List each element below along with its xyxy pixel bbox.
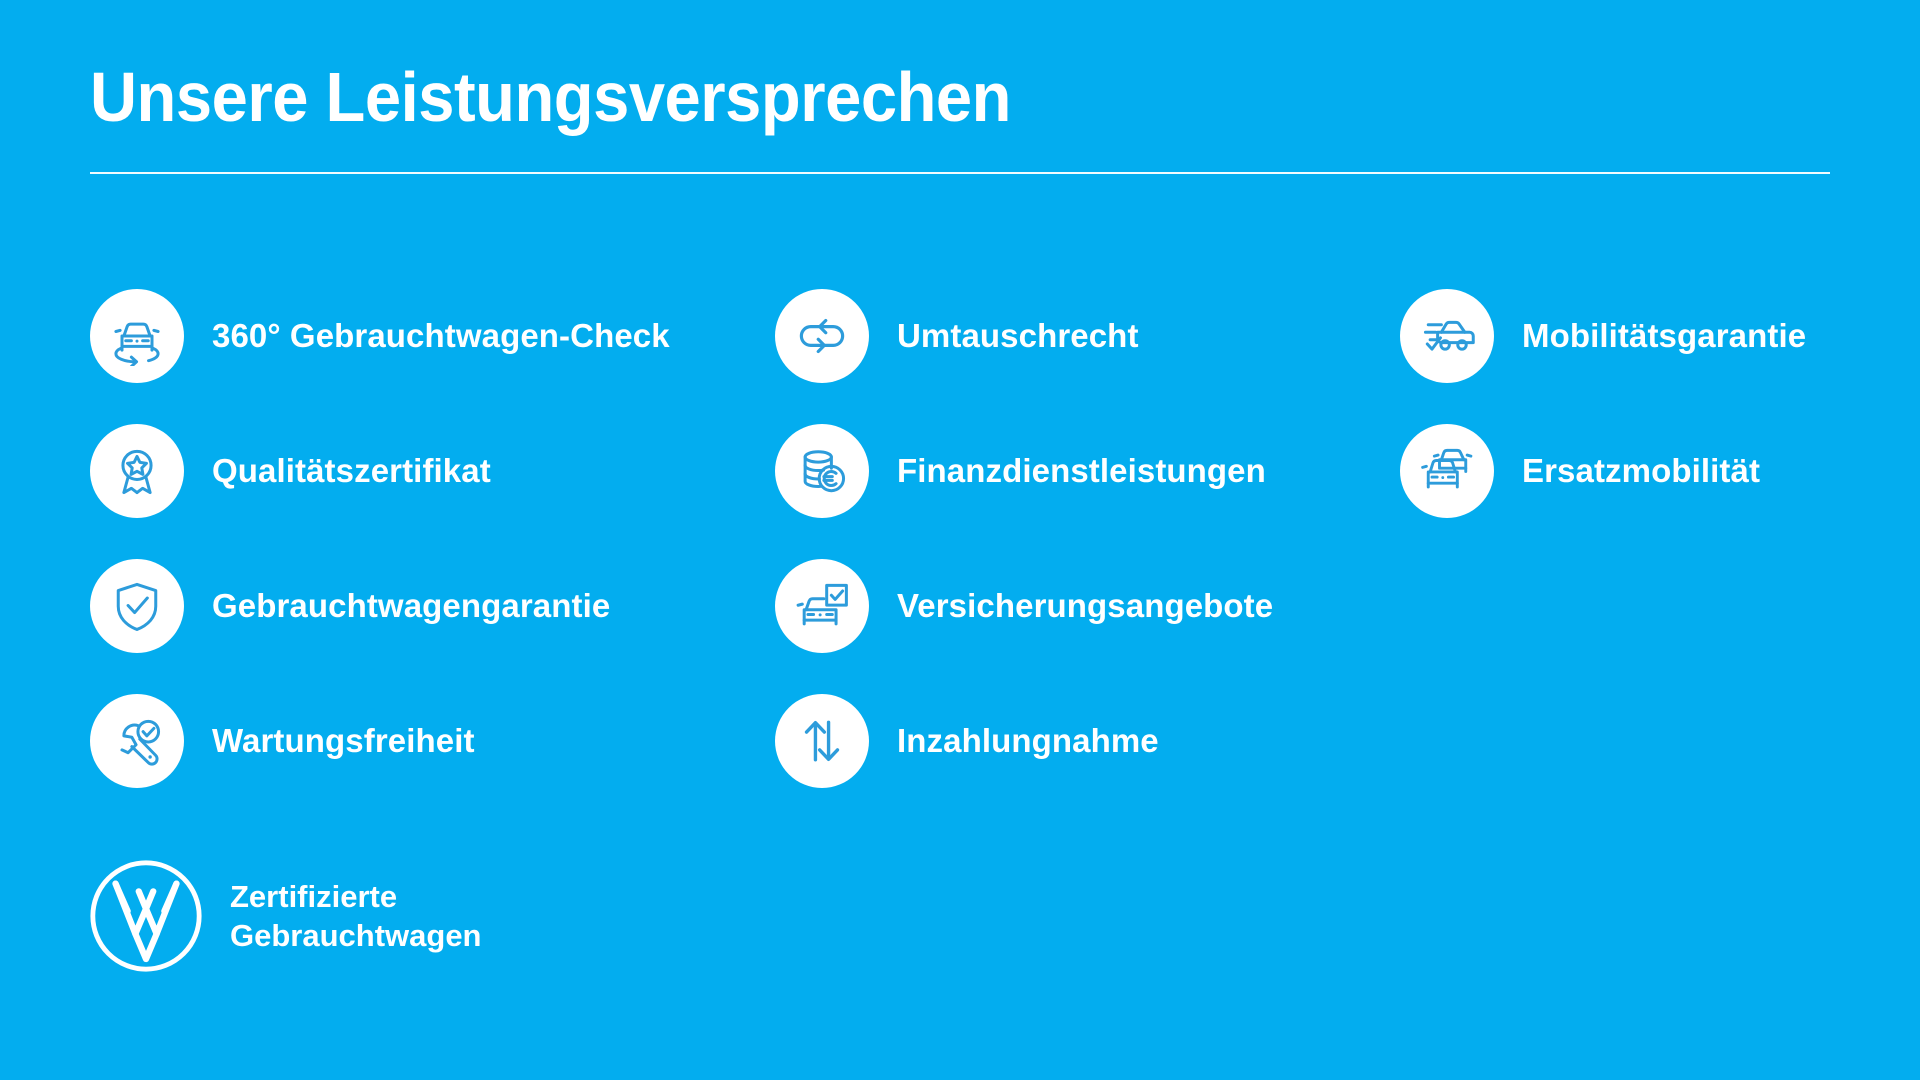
brand-line-1: Zertifizierte	[230, 877, 482, 916]
promise-item-used-car-warranty[interactable]: Gebrauchtwagengarantie	[90, 538, 775, 673]
promises-column-1: 360° Gebrauchtwagen-Check Qualitätszerti…	[90, 268, 775, 808]
two-cars-icon	[1400, 424, 1494, 518]
brand-line-2: Gebrauchtwagen	[230, 916, 482, 955]
brand-block: Zertifizierte Gebrauchtwagen	[88, 858, 482, 974]
promise-item-financial-services[interactable]: Finanzdienstleistungen	[775, 403, 1400, 538]
promise-item-trade-in[interactable]: Inzahlungnahme	[775, 673, 1400, 808]
promise-item-exchange-right[interactable]: Umtauschrecht	[775, 268, 1400, 403]
promise-label: Umtauschrecht	[897, 317, 1139, 355]
promise-label: Inzahlungnahme	[897, 722, 1159, 760]
promise-item-maintenance-free[interactable]: Wartungsfreiheit	[90, 673, 775, 808]
promise-label: 360° Gebrauchtwagen-Check	[212, 317, 670, 355]
header: Unsere Leistungsversprechen	[90, 62, 1830, 132]
promise-label: Mobilitätsgarantie	[1522, 317, 1806, 355]
promises-column-2: Umtauschrecht Finanzdienstleistun	[775, 268, 1400, 808]
promise-item-replacement-mobility[interactable]: Ersatzmobilität	[1400, 403, 1880, 538]
promise-label: Qualitätszertifikat	[212, 452, 491, 490]
promise-label: Wartungsfreiheit	[212, 722, 475, 760]
promise-item-mobility-guarantee[interactable]: Mobilitätsgarantie	[1400, 268, 1880, 403]
promise-item-insurance-offers[interactable]: Versicherungsangebote	[775, 538, 1400, 673]
car-checkbox-icon	[775, 559, 869, 653]
promise-label: Versicherungsangebote	[897, 587, 1273, 625]
promise-label: Finanzdienstleistungen	[897, 452, 1266, 490]
promise-label: Gebrauchtwagengarantie	[212, 587, 610, 625]
up-down-arrows-icon	[775, 694, 869, 788]
promises-grid: 360° Gebrauchtwagen-Check Qualitätszerti…	[90, 268, 1880, 808]
wrench-check-icon	[90, 694, 184, 788]
brand-text: Zertifizierte Gebrauchtwagen	[230, 877, 482, 955]
coins-euro-icon	[775, 424, 869, 518]
promise-item-360-check[interactable]: 360° Gebrauchtwagen-Check	[90, 268, 775, 403]
exchange-arrows-icon	[775, 289, 869, 383]
promise-item-quality-certificate[interactable]: Qualitätszertifikat	[90, 403, 775, 538]
quality-rosette-icon	[90, 424, 184, 518]
promises-column-3: Mobilitätsgarantie	[1400, 268, 1880, 808]
shield-check-icon	[90, 559, 184, 653]
car-360-check-icon	[90, 289, 184, 383]
title-divider	[90, 172, 1830, 174]
promise-label: Ersatzmobilität	[1522, 452, 1760, 490]
page-title: Unsere Leistungsversprechen	[90, 62, 1708, 132]
promises-slide: Unsere Leistungsversprechen	[0, 0, 1920, 1080]
volkswagen-logo-icon	[88, 858, 204, 974]
car-speed-check-icon	[1400, 289, 1494, 383]
